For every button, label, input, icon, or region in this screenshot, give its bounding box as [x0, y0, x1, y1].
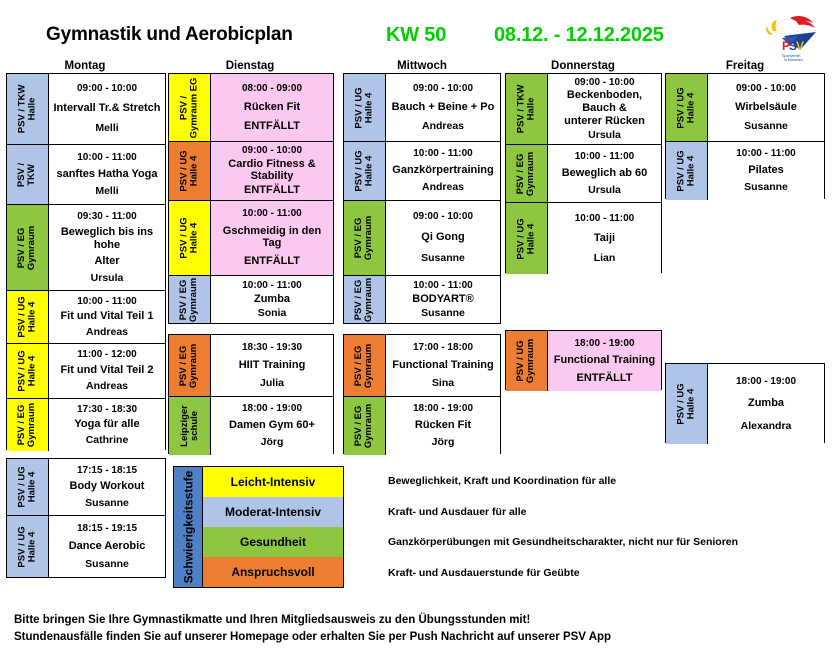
- course-cell[interactable]: 09:00 - 10:00Cardio Fitness & StabilityE…: [211, 142, 333, 200]
- footer-line-2: Stundenausfälle finden Sie auf unserer H…: [14, 629, 824, 646]
- course-cancelled-badge: ENTFÄLLT: [244, 184, 300, 197]
- schedule-row[interactable]: PSV / UGHalle 409:00 - 10:00Bauch + Bein…: [344, 74, 500, 142]
- schedule-block-donnerstag-abend: PSV / UGGymraum18:00 - 19:00Functional T…: [505, 330, 662, 390]
- location-label: PSV / UGHalle 4: [7, 344, 49, 398]
- location-label: PSV / EGGymraum: [169, 276, 211, 323]
- location-label: PSV / UGHalle 4: [169, 142, 211, 200]
- schedule-block-mittwoch-vormittag: PSV / UGHalle 409:00 - 10:00Bauch + Bein…: [343, 73, 501, 324]
- location-label: PSV / UGGymraum: [506, 331, 548, 391]
- location-label: PSV / UGHalle 4: [169, 201, 211, 275]
- location-label: PSV / EGGymraum: [169, 335, 211, 396]
- course-cell[interactable]: 08:00 - 09:00Rücken FitENTFÄLLT: [211, 74, 333, 141]
- schedule-row[interactable]: PSV / UGHalle 410:00 - 11:00PilatesSusan…: [666, 142, 824, 200]
- date-range-label: 08.12. - 12.12.2025: [494, 24, 664, 47]
- course-cell[interactable]: 10:00 - 11:00sanftes Hatha YogaMelli: [49, 145, 165, 204]
- course-cell[interactable]: 09:30 - 11:00Beweglich bis ins hoheAlter…: [49, 205, 165, 290]
- location-line-2: Halle: [527, 85, 537, 134]
- course-time: 18:00 - 19:00: [242, 403, 302, 415]
- schedule-row[interactable]: PSV / UGHalle 409:00 - 10:00Cardio Fitne…: [169, 142, 333, 201]
- day-header-montag: Montag: [6, 60, 164, 72]
- location-line-2: schule: [190, 405, 200, 447]
- page-header: Gymnastik und Aerobicplan KW 50 08.12. -…: [0, 12, 832, 56]
- schedule-row[interactable]: Leipzigerschule18:00 - 19:00Damen Gym 60…: [169, 397, 333, 455]
- location-label: PSV / UGHalle 4: [666, 74, 708, 141]
- legend: Schwierigkeitsstufe Leicht-IntensivModer…: [173, 466, 344, 588]
- course-trainer: Andreas: [422, 181, 464, 193]
- schedule-block-dienstag-abend: PSV / EGGymraum18:30 - 19:30HIIT Trainin…: [168, 334, 334, 454]
- course-time: 11:00 - 12:00: [77, 349, 137, 361]
- location-line-2: Halle 4: [687, 87, 697, 128]
- schedule-row[interactable]: PSV / UGHalle 411:00 - 12:00Fit und Vita…: [7, 344, 165, 399]
- course-name: Dance Aerobic: [69, 540, 146, 553]
- course-name: Fit und Vital Teil 2: [60, 364, 153, 377]
- legend-descriptions: Beweglichkeit, Kraft und Koordination fü…: [388, 466, 832, 588]
- course-name-line-2: unterer Rücken: [564, 115, 645, 128]
- course-trainer: Sina: [432, 377, 454, 389]
- location-label: PSV / UGHalle 4: [666, 364, 708, 444]
- course-trainer: Susanne: [421, 252, 465, 264]
- location-line-2: Gymraum: [28, 225, 38, 269]
- course-cell[interactable]: 10:00 - 11:00TaijiLian: [548, 203, 661, 274]
- course-cell[interactable]: 18:30 - 19:30HIIT TrainingJulia: [211, 335, 333, 396]
- course-trainer: Ursula: [91, 272, 124, 284]
- location-line-2: Gymraum: [365, 404, 375, 448]
- schedule-row[interactable]: PSV / EGGymraum10:00 - 11:00BODYART®Susa…: [344, 276, 500, 323]
- course-cell[interactable]: 10:00 - 11:00PilatesSusanne: [708, 142, 824, 200]
- location-label: PSV / UGHalle 4: [344, 142, 386, 200]
- location-line-2: Gymraum: [190, 343, 200, 387]
- location-label: Leipzigerschule: [169, 397, 211, 455]
- schedule-block-donnerstag-vormittag: PSV / TKWHalle09:00 - 10:00Beckenboden, …: [505, 73, 662, 273]
- course-time: 09:00 - 10:00: [736, 83, 796, 95]
- course-time: 17:00 - 18:00: [413, 342, 473, 354]
- location-line-2: Gymraum: [365, 277, 375, 321]
- footer-notes: Bitte bringen Sie Ihre Gymnastikmatte un…: [14, 612, 824, 645]
- day-header-mittwoch: Mittwoch: [343, 60, 501, 72]
- location-line-2: Gymraum: [190, 277, 200, 321]
- course-name: Zumba: [748, 397, 784, 410]
- schedule-row[interactable]: PSV /Gymraum EG08:00 - 09:00Rücken FitEN…: [169, 74, 333, 142]
- course-trainer: Julia: [260, 377, 284, 389]
- course-name: Beweglich bis ins hohe: [50, 226, 164, 251]
- location-label: PSV / UGHalle 4: [7, 291, 49, 343]
- location-label: PSV /Gymraum EG: [169, 74, 211, 141]
- legend-description-moderat: Kraft- und Ausdauer für alle: [388, 497, 832, 528]
- legend-level-gesundheit: Gesundheit: [203, 527, 343, 557]
- location-label: PSV / UGHalle 4: [7, 516, 49, 577]
- schedule-row[interactable]: PSV / UGHalle 410:00 - 11:00Ganzkörpertr…: [344, 142, 500, 201]
- course-cell[interactable]: 10:00 - 11:00BODYART®Susanne: [386, 276, 500, 323]
- course-name: Zumba: [254, 293, 290, 306]
- course-name: Beckenboden, Bauch &: [549, 89, 660, 114]
- course-name: Functional Training: [392, 359, 493, 372]
- course-trainer: Melli: [95, 122, 118, 134]
- course-trainer: Susanne: [85, 558, 129, 570]
- course-time: 10:00 - 11:00: [413, 148, 473, 160]
- schedule-row[interactable]: PSV / UGHalle 409:00 - 10:00WirbelsäuleS…: [666, 74, 824, 142]
- course-name: sanftes Hatha Yoga: [56, 168, 157, 181]
- course-time: 17:30 - 18:30: [77, 404, 137, 416]
- location-line-2: TKW: [27, 162, 37, 186]
- svg-text:V: V: [796, 39, 804, 53]
- course-time: 08:00 - 09:00: [242, 83, 302, 95]
- course-trainer: Ursula: [588, 129, 621, 141]
- schedule-row[interactable]: PSV / UGHalle 417:15 - 18:15Body Workout…: [7, 459, 165, 516]
- day-header-donnerstag: Donnerstag: [505, 60, 661, 72]
- course-name: Body Workout: [70, 480, 145, 493]
- course-name: Fit und Vital Teil 1: [60, 310, 153, 323]
- course-trainer: Melli: [95, 185, 118, 197]
- location-label: PSV / EGGymraum: [344, 276, 386, 323]
- course-time: 09:00 - 10:00: [413, 83, 473, 95]
- course-cell[interactable]: 18:00 - 19:00Damen Gym 60+Jörg: [211, 397, 333, 455]
- course-cell[interactable]: 09:00 - 10:00WirbelsäuleSusanne: [708, 74, 824, 141]
- location-label: PSV / UGHalle 4: [666, 142, 708, 200]
- location-label: PSV / UGHalle 4: [7, 459, 49, 515]
- course-time: 18:00 - 19:00: [574, 338, 634, 350]
- course-time: 17:15 - 18:15: [77, 465, 137, 477]
- course-trainer: Alexandra: [741, 420, 792, 432]
- legend-level-anspruchsvoll: Anspruchsvoll: [203, 557, 343, 587]
- legend-level-moderat: Moderat-Intensiv: [203, 497, 343, 527]
- course-name: BODYART®: [412, 293, 473, 306]
- schedule-row[interactable]: PSV / EGGymraum18:00 - 19:00Rücken FitJö…: [344, 397, 500, 455]
- schedule-row[interactable]: PSV /TKW10:00 - 11:00sanftes Hatha YogaM…: [7, 145, 165, 205]
- course-trainer: Susanne: [744, 181, 788, 193]
- course-trainer: Jörg: [432, 436, 455, 448]
- location-label: PSV / TKWHalle: [506, 74, 548, 144]
- course-cell[interactable]: 18:15 - 19:15Dance AerobicSusanne: [49, 516, 165, 577]
- page-title: Gymnastik und Aerobicplan: [46, 24, 376, 46]
- schedule-row[interactable]: PSV / UGGymraum18:00 - 19:00Functional T…: [506, 331, 661, 391]
- course-cell[interactable]: 18:00 - 19:00Rücken FitJörg: [386, 397, 500, 455]
- schedule-block-montag-vormittag: PSV / TKWHalle09:00 - 10:00Intervall Tr.…: [6, 73, 166, 450]
- location-label: PSV / EGGymraum: [7, 205, 49, 290]
- location-label: PSV / EGGymraum: [344, 201, 386, 275]
- legend-description-leicht: Beweglichkeit, Kraft und Koordination fü…: [388, 466, 832, 497]
- legend-description-anspruchsvoll: Kraft- und Ausdauerstunde für Geübte: [388, 558, 832, 589]
- location-line-2: Halle 4: [365, 150, 375, 191]
- schedule-block-dienstag-vormittag: PSV /Gymraum EG08:00 - 09:00Rücken FitEN…: [168, 73, 334, 324]
- legend-side-title-text: Schwierigkeitsstufe: [181, 471, 195, 584]
- footer-line-1: Bitte bringen Sie Ihre Gymnastikmatte un…: [14, 612, 824, 629]
- location-line-2: Gymraum: [365, 343, 375, 387]
- course-name: Functional Training: [554, 354, 655, 367]
- legend-side-title: Schwierigkeitsstufe: [174, 467, 203, 587]
- day-header-dienstag: Dienstag: [168, 60, 332, 72]
- course-name: Cardio Fitness & Stability: [212, 158, 332, 183]
- course-name: Ganzkörpertraining: [392, 164, 493, 177]
- location-line-2: Halle 4: [28, 296, 38, 337]
- course-trainer: Jörg: [261, 436, 284, 448]
- course-cell[interactable]: 10:00 - 11:00Fit und Vital Teil 1Andreas: [49, 291, 165, 343]
- location-line-2: Halle 4: [190, 150, 200, 191]
- location-line-2: Gymraum: [527, 151, 537, 195]
- schedule-block-mittwoch-abend: PSV / EGGymraum17:00 - 18:00Functional T…: [343, 334, 501, 454]
- course-trainer: Lian: [594, 252, 616, 264]
- course-time: 10:00 - 11:00: [242, 208, 302, 220]
- course-cell[interactable]: 18:00 - 19:00ZumbaAlexandra: [708, 364, 824, 444]
- course-time: 09:00 - 10:00: [77, 83, 137, 95]
- course-trainer: Susanne: [421, 307, 465, 319]
- schedule-block-freitag-vormittag: PSV / UGHalle 409:00 - 10:00WirbelsäuleS…: [665, 73, 825, 199]
- course-trainer: Andreas: [422, 120, 464, 132]
- course-time: 10:00 - 11:00: [736, 148, 796, 160]
- course-time: 09:00 - 10:00: [242, 145, 302, 157]
- course-time: 10:00 - 11:00: [242, 280, 302, 292]
- course-time: 09:30 - 11:00: [77, 211, 137, 223]
- location-label: PSV / TKWHalle: [7, 74, 49, 144]
- course-trainer: Andreas: [86, 380, 128, 392]
- schedule-row[interactable]: PSV / EGGymraum10:00 - 11:00ZumbaSonia: [169, 276, 333, 323]
- course-name: Bauch + Beine + Po: [392, 101, 495, 114]
- location-line-2: Halle 4: [527, 218, 537, 259]
- course-cell[interactable]: 09:00 - 10:00Qi GongSusanne: [386, 201, 500, 275]
- course-name: Rücken Fit: [244, 101, 300, 114]
- schedule-row[interactable]: PSV / UGHalle 418:15 - 19:15Dance Aerobi…: [7, 516, 165, 577]
- course-cell[interactable]: 17:15 - 18:15Body WorkoutSusanne: [49, 459, 165, 515]
- course-name-line-2: Alter: [94, 255, 119, 268]
- course-cell[interactable]: 18:00 - 19:00Functional TrainingENTFÄLLT: [548, 331, 661, 391]
- location-label: PSV / EGGymraum: [506, 145, 548, 202]
- legend-levels: Leicht-IntensivModerat-IntensivGesundhei…: [203, 467, 343, 587]
- schedule-row[interactable]: PSV / UGHalle 410:00 - 11:00Fit und Vita…: [7, 291, 165, 344]
- location-line-2: Halle 4: [687, 150, 697, 191]
- course-name: Taiji: [594, 232, 615, 245]
- course-name: HIIT Training: [239, 359, 306, 372]
- schedule-row[interactable]: PSV / TKWHalle09:00 - 10:00Beckenboden, …: [506, 74, 661, 145]
- schedule-row[interactable]: PSV / TKWHalle09:00 - 10:00Intervall Tr.…: [7, 74, 165, 145]
- legend-level-leicht: Leicht-Intensiv: [203, 467, 343, 497]
- course-name: Yoga für alle: [74, 418, 139, 431]
- schedule-row[interactable]: PSV / EGGymraum09:30 - 11:00Beweglich bi…: [7, 205, 165, 291]
- schedule-row[interactable]: PSV / UGHalle 410:00 - 11:00Gschmeidig i…: [169, 201, 333, 276]
- course-time: 10:00 - 11:00: [575, 213, 635, 225]
- course-trainer: Cathrine: [86, 434, 129, 446]
- course-cell[interactable]: 10:00 - 11:00Beweglich ab 60Ursula: [548, 145, 661, 202]
- course-time: 10:00 - 11:00: [413, 280, 473, 292]
- course-cancelled-badge: ENTFÄLLT: [244, 255, 300, 268]
- course-cell[interactable]: 17:00 - 18:00Functional TrainingSina: [386, 335, 500, 396]
- course-time: 10:00 - 11:00: [575, 151, 635, 163]
- course-cell[interactable]: 11:00 - 12:00Fit und Vital Teil 2Andreas: [49, 344, 165, 398]
- location-label: PSV / EGGymraum: [344, 335, 386, 396]
- course-cell[interactable]: 10:00 - 11:00ZumbaSonia: [211, 276, 333, 323]
- course-name: Wirbelsäule: [735, 101, 797, 114]
- calendar-week-label: KW 50: [386, 24, 446, 47]
- location-label: PSV / EGGymraum: [7, 399, 49, 451]
- course-trainer: Andreas: [86, 326, 128, 338]
- schedule-block-montag-abend: PSV / UGHalle 417:15 - 18:15Body Workout…: [6, 458, 166, 578]
- course-name: Pilates: [748, 164, 783, 177]
- course-name: Damen Gym 60+: [229, 419, 315, 432]
- course-trainer: Sonia: [258, 307, 287, 319]
- course-cancelled-badge: ENTFÄLLT: [244, 120, 300, 133]
- schedule-row[interactable]: PSV / EGGymraum18:30 - 19:30HIIT Trainin…: [169, 335, 333, 397]
- legend-description-gesundheit: Ganzkörperübungen mit Gesundheitscharakt…: [388, 527, 832, 558]
- location-line-2: Halle 4: [28, 350, 38, 391]
- schedule-row[interactable]: PSV / UGHalle 418:00 - 19:00ZumbaAlexand…: [666, 364, 824, 444]
- course-trainer: Susanne: [744, 120, 788, 132]
- course-cell[interactable]: 09:00 - 10:00Intervall Tr.& StretchMelli: [49, 74, 165, 144]
- course-trainer: Ursula: [588, 184, 621, 196]
- day-header-freitag: Freitag: [665, 60, 825, 72]
- location-label: PSV / UGHalle 4: [506, 203, 548, 274]
- location-line-2: Halle 4: [365, 87, 375, 128]
- course-time: 10:00 - 11:00: [77, 152, 137, 164]
- schedule-row[interactable]: PSV / EGGymraum09:00 - 10:00Qi GongSusan…: [344, 201, 500, 276]
- course-time: 18:00 - 19:00: [413, 403, 473, 415]
- course-name: Beweglich ab 60: [562, 167, 648, 180]
- location-label: PSV / EGGymraum: [344, 397, 386, 455]
- course-cancelled-badge: ENTFÄLLT: [576, 372, 632, 385]
- course-time: 10:00 - 11:00: [77, 296, 137, 308]
- location-line-2: Gymraum EG: [190, 77, 200, 138]
- course-name: Gschmeidig in den Tag: [212, 225, 332, 250]
- course-cell[interactable]: 17:30 - 18:30Yoga für alleCathrine: [49, 399, 165, 451]
- course-time: 18:30 - 19:30: [242, 342, 302, 354]
- location-line-2: Halle: [28, 85, 38, 134]
- location-label: PSV /TKW: [7, 145, 49, 204]
- course-name: Qi Gong: [421, 231, 464, 244]
- course-name: Rücken Fit: [415, 419, 471, 432]
- course-cell[interactable]: 09:00 - 10:00Bauch + Beine + PoAndreas: [386, 74, 500, 141]
- location-line-2: Gymraum: [527, 339, 537, 383]
- course-cell[interactable]: 09:00 - 10:00Beckenboden, Bauch &unterer…: [548, 74, 661, 144]
- course-trainer: Susanne: [85, 497, 129, 509]
- schedule-row[interactable]: PSV / EGGymraum10:00 - 11:00Beweglich ab…: [506, 145, 661, 203]
- location-line-2: Halle 4: [28, 466, 38, 507]
- schedule-row[interactable]: PSV / EGGymraum17:00 - 18:00Functional T…: [344, 335, 500, 397]
- schedule-row[interactable]: PSV / UGHalle 410:00 - 11:00TaijiLian: [506, 203, 661, 274]
- location-line-2: Halle 4: [687, 383, 697, 424]
- course-time: 18:00 - 19:00: [736, 376, 796, 388]
- location-label: PSV / UGHalle 4: [344, 74, 386, 141]
- location-line-2: Halle 4: [28, 526, 38, 567]
- course-cell[interactable]: 10:00 - 11:00GanzkörpertrainingAndreas: [386, 142, 500, 200]
- psv-logo-icon: P S V Sportverein in München: [760, 12, 822, 66]
- schedule-row[interactable]: PSV / EGGymraum17:30 - 18:30Yoga für all…: [7, 399, 165, 451]
- course-time: 09:00 - 10:00: [413, 211, 473, 223]
- location-line-2: Gymraum: [365, 216, 375, 260]
- course-time: 09:00 - 10:00: [574, 77, 634, 89]
- schedule-page: Gymnastik und Aerobicplan KW 50 08.12. -…: [0, 0, 832, 656]
- course-time: 18:15 - 19:15: [77, 523, 137, 535]
- schedule-block-freitag-abend: PSV / UGHalle 418:00 - 19:00ZumbaAlexand…: [665, 363, 825, 443]
- course-cell[interactable]: 10:00 - 11:00Gschmeidig in den TagENTFÄL…: [211, 201, 333, 275]
- location-line-2: Gymraum: [28, 403, 38, 447]
- course-name: Intervall Tr.& Stretch: [54, 102, 161, 115]
- location-line-2: Halle 4: [190, 217, 200, 258]
